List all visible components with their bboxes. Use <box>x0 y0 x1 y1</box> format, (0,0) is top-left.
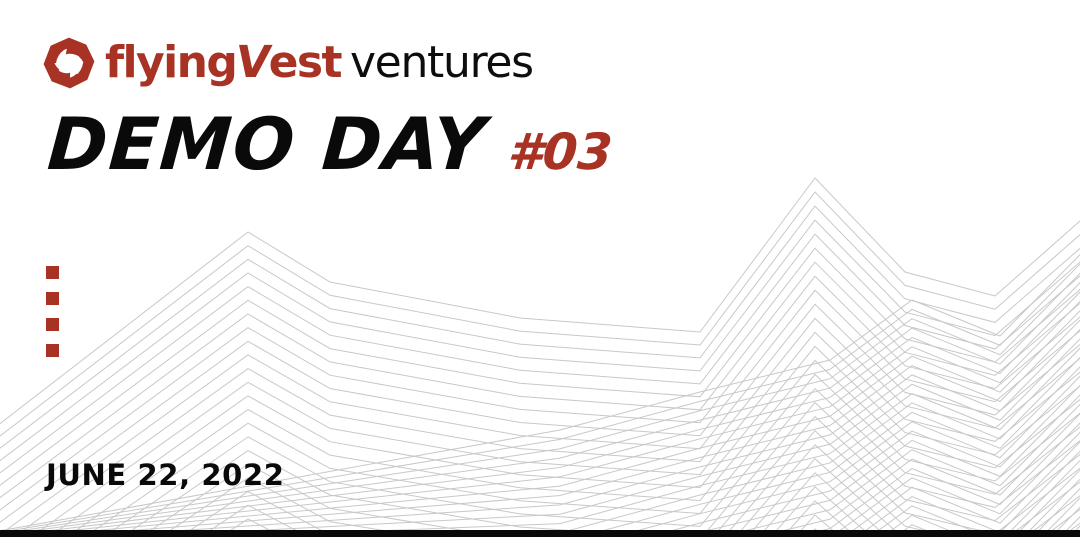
contour-line <box>0 168 1080 470</box>
contour-line <box>0 182 1080 482</box>
wordmark-v-part: V <box>233 41 272 85</box>
wordmark-flyingvest: flyingVest <box>105 41 341 85</box>
contour-line <box>0 251 1080 540</box>
contour-line <box>0 345 1080 540</box>
contour-line <box>0 354 1080 540</box>
wordmark-est-part: est <box>269 37 341 88</box>
wordmark-ventures: ventures <box>350 41 533 85</box>
contour-line <box>0 336 1080 540</box>
contour-line <box>0 373 1080 540</box>
contour-line <box>0 351 1080 540</box>
contour-line <box>0 270 1080 540</box>
decorative-square <box>46 344 59 357</box>
contour-line <box>0 308 1080 540</box>
decorative-square <box>46 292 59 305</box>
contour-line <box>0 295 1080 540</box>
page-title: DEMO DAY #03 <box>48 108 613 180</box>
contour-line <box>0 289 1080 540</box>
contour-line <box>0 280 1080 540</box>
contour-line <box>0 242 1080 540</box>
headline-edition-number: #03 <box>506 127 614 177</box>
contour-line <box>0 233 1080 540</box>
contour-line <box>0 364 1080 540</box>
bottom-rule-bar <box>0 530 1080 537</box>
contour-line <box>0 317 1080 540</box>
decorative-square <box>46 266 59 279</box>
contour-line <box>0 323 1080 540</box>
contour-line <box>0 261 1080 540</box>
decorative-square-column <box>46 266 59 357</box>
contour-line <box>0 337 1080 540</box>
contour-line <box>0 309 1080 540</box>
contour-line <box>0 281 1080 540</box>
contour-line <box>0 253 1080 540</box>
wordmark-flying-part: flying <box>105 37 236 88</box>
aperture-pinwheel-icon <box>42 36 96 90</box>
demo-day-banner: flyingVest ventures DEMO DAY #03 JUNE 22… <box>0 0 1080 540</box>
contour-line <box>0 196 1080 494</box>
contour-line <box>0 366 1080 540</box>
decorative-square <box>46 318 59 331</box>
brand-logo-lockup[interactable]: flyingVest ventures <box>42 34 533 92</box>
contour-line <box>0 298 1080 540</box>
brand-wordmark: flyingVest ventures <box>105 41 533 85</box>
contour-line <box>0 267 1080 540</box>
event-date: JUNE 22, 2022 <box>46 461 285 490</box>
contour-line <box>0 326 1080 540</box>
headline-demo-day: DEMO DAY <box>45 108 488 180</box>
